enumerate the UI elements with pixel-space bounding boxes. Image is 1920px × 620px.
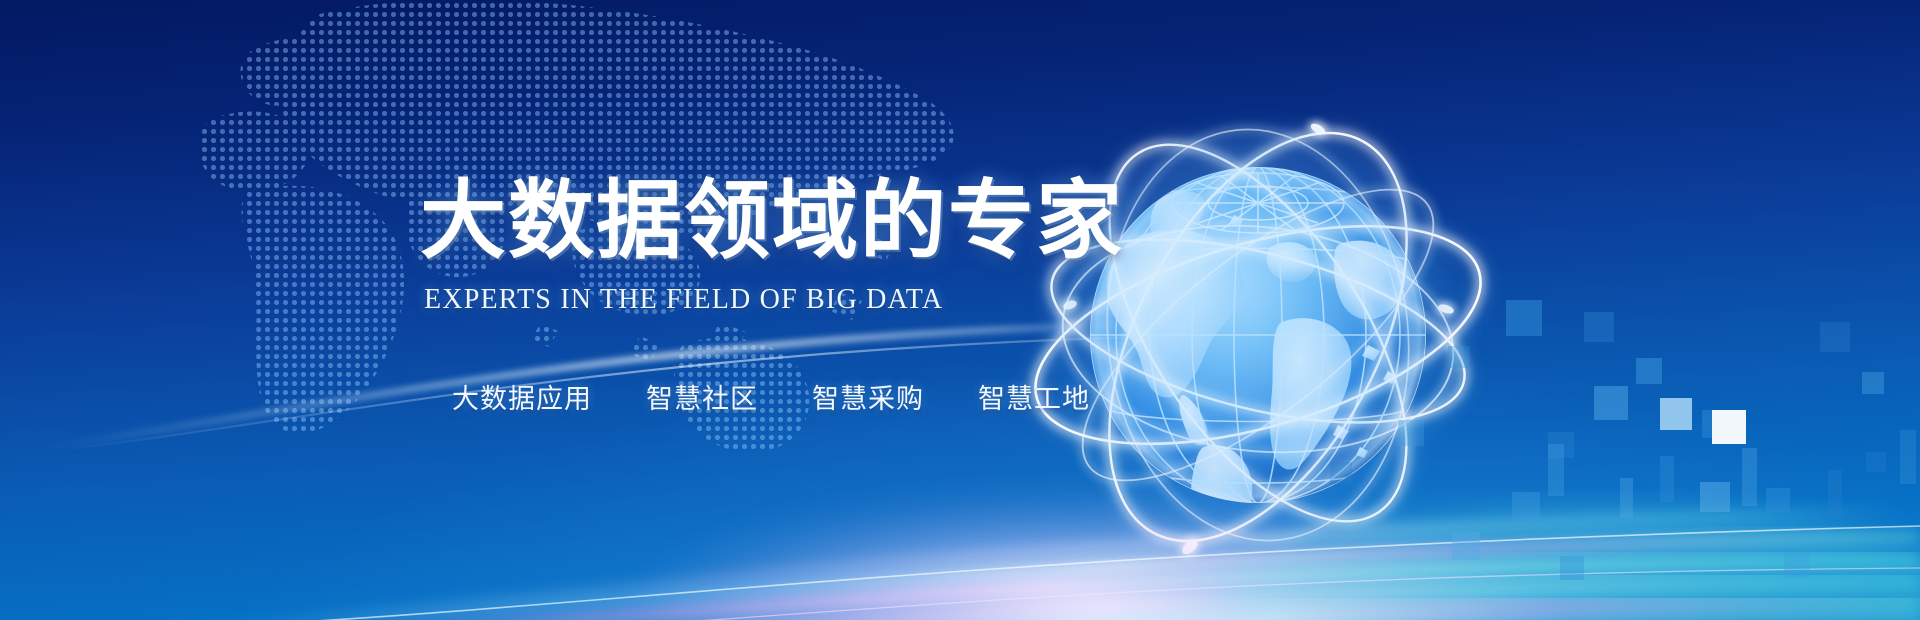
banner-subtitle: EXPERTS IN THE FIELD OF BIG DATA	[424, 286, 943, 314]
tagline-list: 大数据应用 智慧社区 智慧采购 智慧工地	[452, 386, 1090, 413]
tagline-item-2[interactable]: 智慧采购	[812, 386, 924, 413]
tagline-item-0[interactable]: 大数据应用	[452, 386, 592, 413]
big-data-banner: 大数据领域的专家 EXPERTS IN THE FIELD OF BIG DAT…	[0, 0, 1920, 620]
page-title: 大数据领域的专家	[420, 178, 1124, 264]
tagline-item-3[interactable]: 智慧工地	[978, 386, 1090, 413]
tagline-item-1[interactable]: 智慧社区	[646, 386, 758, 413]
banner-copy: 大数据领域的专家 EXPERTS IN THE FIELD OF BIG DAT…	[0, 0, 1100, 620]
